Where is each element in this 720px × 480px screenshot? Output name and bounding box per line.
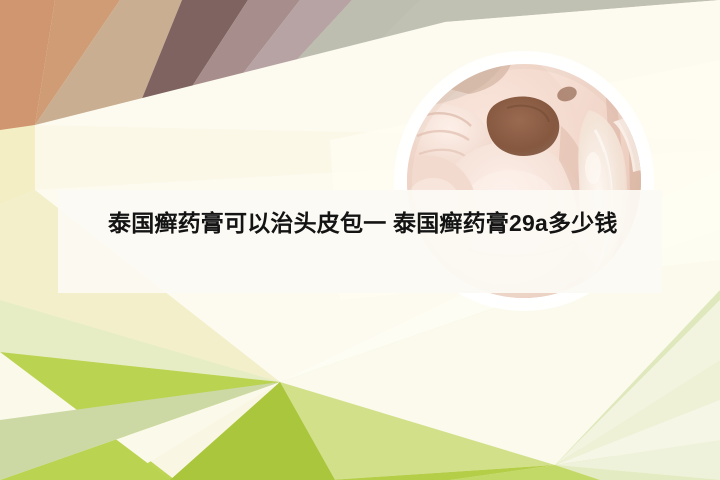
caption-panel: 泰国癣药膏可以治头皮包一 泰国癣药膏29a多少钱 [58,190,662,293]
image-canvas: 泰国癣药膏可以治头皮包一 泰国癣药膏29a多少钱 [0,0,720,480]
page-title: 泰国癣药膏可以治头皮包一 泰国癣药膏29a多少钱 [108,207,648,240]
